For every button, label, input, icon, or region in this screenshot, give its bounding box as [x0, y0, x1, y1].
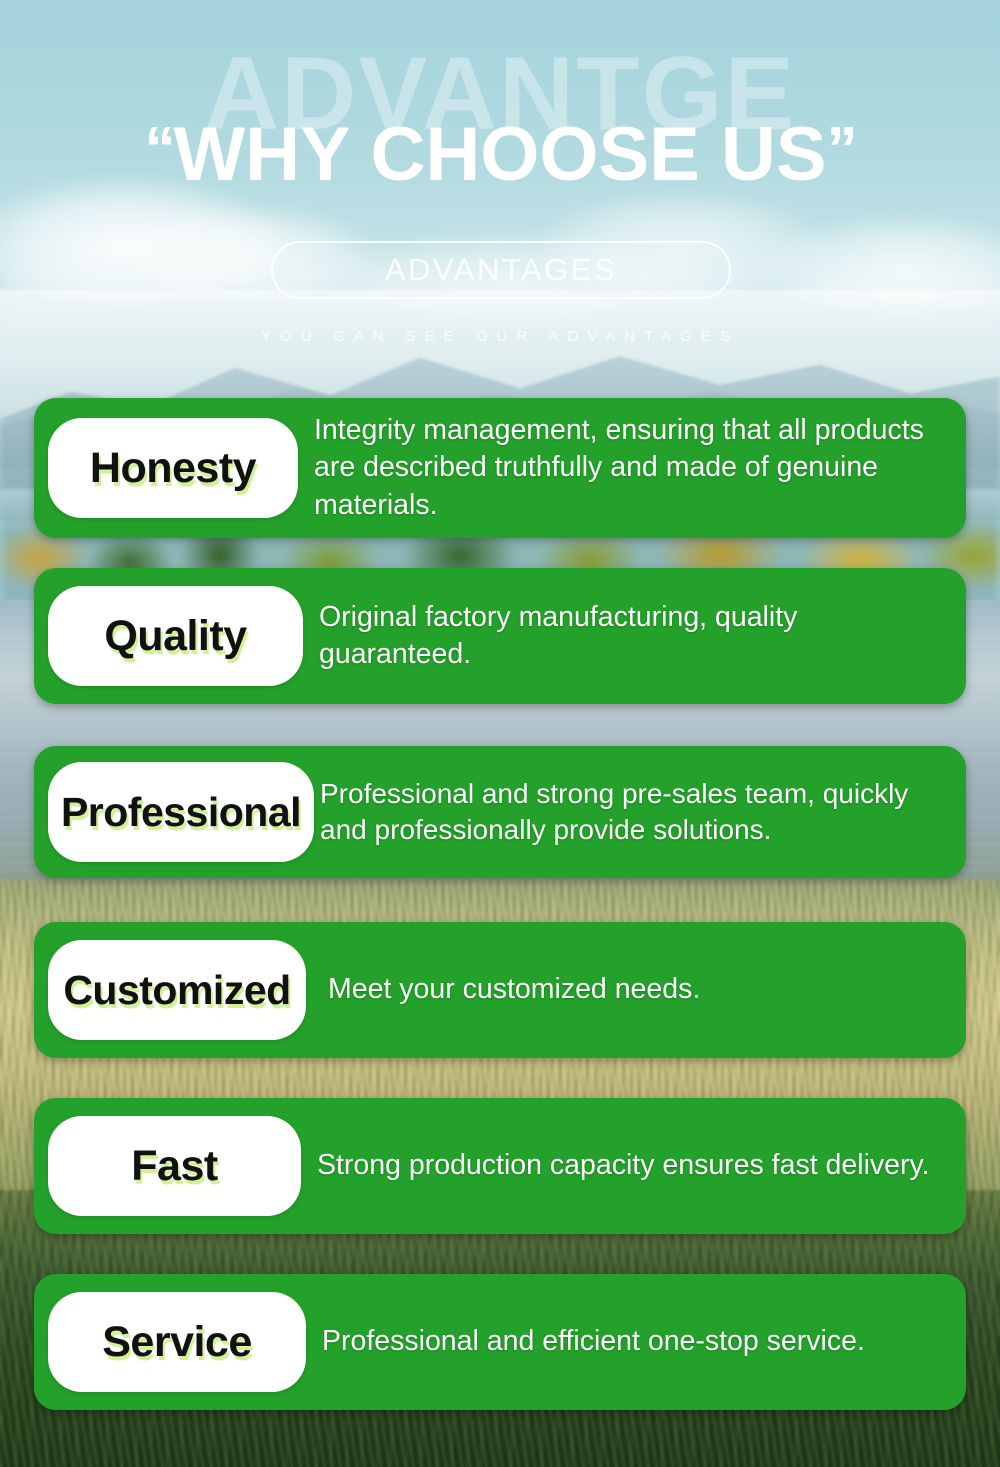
advantage-label-pill: Service	[48, 1292, 306, 1392]
advantage-description: Original factory manufacturing, quality …	[303, 599, 950, 673]
advantage-label-pill: Professional	[48, 762, 314, 862]
advantage-label-pill: Customized	[48, 940, 306, 1040]
advantages-poster: ADVANTGE “WHY CHOOSE US” ADVANTAGES YOU …	[0, 0, 1000, 1467]
advantage-label: Quality	[104, 615, 246, 658]
advantage-label-pill: Quality	[48, 586, 303, 686]
advantage-description: Professional and strong pre-sales team, …	[314, 776, 950, 849]
advantages-badge: ADVANTAGES	[271, 241, 731, 299]
advantage-card-professional: Professional Professional and strong pre…	[34, 746, 966, 878]
advantage-card-service: Service Professional and efficient one-s…	[34, 1274, 966, 1410]
quote-close-icon: ”	[827, 115, 856, 184]
quote-open-icon: “	[144, 115, 173, 184]
advantage-card-fast: Fast Strong production capacity ensures …	[34, 1098, 966, 1234]
advantage-card-honesty: Honesty Integrity management, ensuring t…	[34, 398, 966, 538]
advantage-description: Meet your customized needs.	[306, 971, 950, 1008]
advantage-label: Fast	[131, 1145, 217, 1188]
header-subline: YOU CAN SEE OUR ADVANTAGES	[0, 328, 1000, 345]
poster-header: ADVANTGE “WHY CHOOSE US” ADVANTAGES YOU …	[0, 0, 1000, 380]
page-title-text: WHY CHOOSE US	[173, 112, 826, 197]
advantage-card-quality: Quality Original factory manufacturing, …	[34, 568, 966, 704]
advantage-card-customized: Customized Meet your customized needs.	[34, 922, 966, 1058]
advantage-label: Professional	[61, 792, 301, 833]
advantage-description: Strong production capacity ensures fast …	[301, 1147, 950, 1184]
advantage-label: Customized	[63, 970, 290, 1011]
advantage-label: Honesty	[90, 447, 256, 490]
advantage-label-pill: Fast	[48, 1116, 301, 1216]
advantage-label: Service	[102, 1321, 252, 1364]
advantage-description: Integrity management, ensuring that all …	[298, 412, 950, 523]
advantage-description: Professional and efficient one-stop serv…	[306, 1323, 950, 1360]
advantages-badge-label: ADVANTAGES	[385, 252, 617, 288]
advantage-label-pill: Honesty	[48, 418, 298, 518]
page-title: “WHY CHOOSE US”	[0, 117, 1000, 193]
